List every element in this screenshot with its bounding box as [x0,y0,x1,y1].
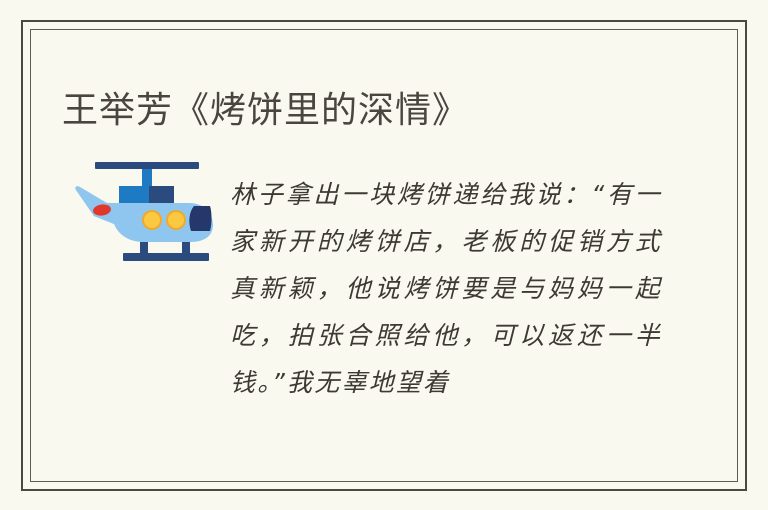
helicopter-rotor-blade [95,162,199,169]
helicopter-window-2-inner [168,212,184,228]
helicopter-skid-strut-right [182,242,190,254]
helicopter-skid-strut-left [140,242,148,254]
helicopter-landing-skid [123,253,209,261]
article-paragraph: 林子拿出一块烤饼递给我说：“有一家新开的烤饼店，老板的促销方式真新颖，他说烤饼要… [230,171,662,406]
article-body: 林子拿出一块烤饼递给我说：“有一家新开的烤饼店，老板的促销方式真新颖，他说烤饼要… [30,146,738,406]
helicopter-window-1-inner [144,212,160,228]
helicopter-cockpit-window [189,206,211,231]
page-content: 王举芳《烤饼里的深情》 [30,29,738,482]
helicopter-engine-right [149,186,174,203]
helicopter-icon [58,154,223,266]
helicopter-illustration [58,154,223,266]
helicopter-engine-left [119,186,149,203]
article-page: 王举芳《烤饼里的深情》 [0,0,768,510]
page-title: 王举芳《烤饼里的深情》 [62,87,469,133]
